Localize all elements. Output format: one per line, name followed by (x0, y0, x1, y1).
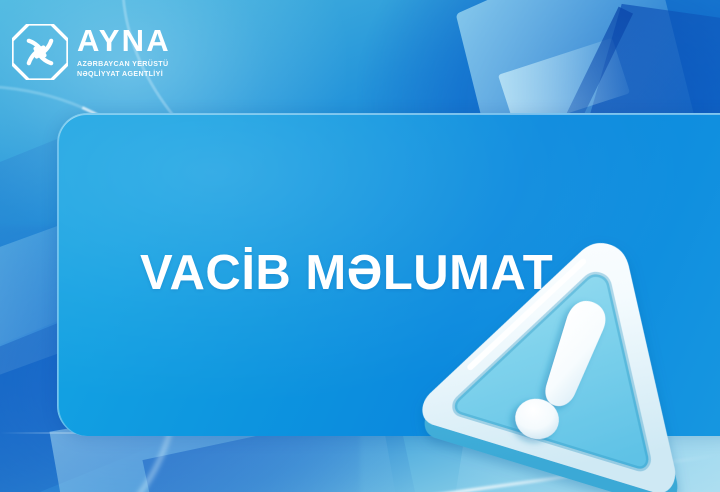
ayna-eight-point-star-icon (12, 24, 68, 80)
logo-subtitle-line-1: AZƏRBAYCAN YERÜSTÜ (77, 60, 168, 68)
logo-subtitle-line-2: NƏQLİYYAT AGENTLİYİ (77, 70, 163, 78)
logo-wordmark: AYNA AZƏRBAYCAN YERÜSTÜ NƏQLİYYAT AGENTL… (77, 25, 171, 79)
logo-subtitle: AZƏRBAYCAN YERÜSTÜ NƏQLİYYAT AGENTLİYİ (77, 59, 171, 79)
logo-title: AYNA (77, 25, 171, 56)
warning-triangle-exclamation-icon (418, 215, 720, 492)
poster-canvas: AYNA AZƏRBAYCAN YERÜSTÜ NƏQLİYYAT AGENTL… (0, 0, 720, 492)
ayna-logo[interactable]: AYNA AZƏRBAYCAN YERÜSTÜ NƏQLİYYAT AGENTL… (12, 24, 171, 80)
